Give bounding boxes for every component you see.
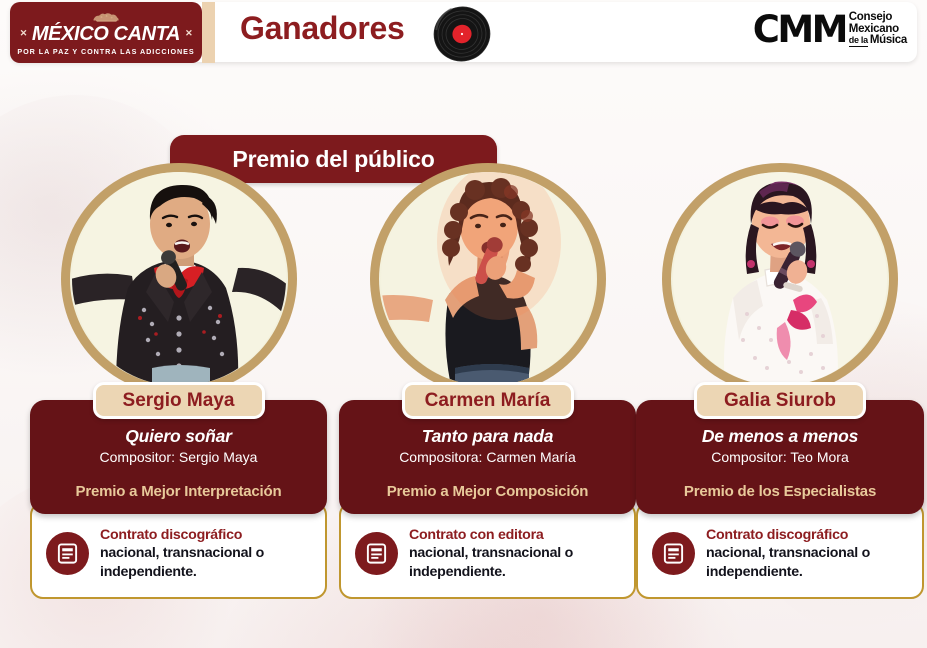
- contract-text: Contrato discográfico nacional, transnac…: [100, 526, 313, 581]
- contract-rest-text: nacional, transnacional o independiente.: [706, 545, 870, 579]
- portrait-gold-ring: [370, 163, 606, 395]
- document-glyph-icon: [662, 542, 685, 565]
- portrait-photo: [379, 172, 597, 386]
- portrait-photo: [70, 172, 288, 386]
- contract-rest-text: nacional, transnacional o independiente.: [100, 545, 264, 579]
- portrait-gold-ring: [61, 163, 297, 395]
- contract-lead-text: Contrato discográfico: [100, 526, 313, 544]
- award-label: Premio a Mejor Composición: [349, 483, 626, 500]
- winner-name-badge: Carmen María: [402, 382, 574, 419]
- winner-name-badge: Sergio Maya: [93, 382, 265, 419]
- contract-info-box: Contrato discográfico nacional, transnac…: [636, 502, 924, 599]
- contract-lead-text: Contrato con editora: [409, 526, 622, 544]
- singer-illustration: [379, 172, 597, 386]
- contract-lead-text: Contrato discográfico: [706, 526, 910, 544]
- award-label: Premio de los Especialistas: [646, 483, 914, 500]
- song-title: De menos a menos: [646, 426, 914, 447]
- composer-credit: Compositora: Carmen María: [349, 449, 626, 465]
- cmm-line-1: Consejo: [849, 12, 907, 24]
- contract-document-icon: [355, 532, 398, 575]
- portrait-gold-ring: [662, 163, 898, 395]
- cmm-mark-text: CMM: [753, 13, 846, 47]
- song-title: Tanto para nada: [349, 426, 626, 447]
- winner-card: Sergio Maya Quiero soñar Compositor: Ser…: [30, 163, 327, 599]
- cmm-full-name: Consejo Mexicano de la Música: [849, 12, 907, 47]
- contract-rest-text: nacional, transnacional o independiente.: [409, 545, 573, 579]
- portrait-sergio-maya: [61, 163, 297, 395]
- award-label: Premio a Mejor Interpretación: [40, 483, 317, 500]
- singer-illustration: [671, 172, 889, 386]
- composer-credit: Compositor: Teo Mora: [646, 449, 914, 465]
- cmm-line-3-small: de la: [849, 36, 868, 46]
- contract-document-icon: [46, 532, 89, 575]
- cmm-line-3: Música: [870, 35, 907, 47]
- portrait-carmen-maria: [370, 163, 606, 395]
- contract-text: Contrato con editora nacional, transnaci…: [409, 526, 622, 581]
- contract-info-box: Contrato con editora nacional, transnaci…: [339, 502, 636, 599]
- contract-info-box: Contrato discográfico nacional, transnac…: [30, 502, 327, 599]
- winners-grid: Sergio Maya Quiero soñar Compositor: Ser…: [0, 0, 927, 648]
- composer-credit: Compositor: Sergio Maya: [40, 449, 317, 465]
- portrait-galia-siurob: [662, 163, 898, 395]
- cmm-partner-logo[interactable]: CMM Consejo Mexicano de la Música: [753, 12, 907, 47]
- song-title: Quiero soñar: [40, 426, 317, 447]
- portrait-photo: [671, 172, 889, 386]
- contract-document-icon: [652, 532, 695, 575]
- contract-text: Contrato discográfico nacional, transnac…: [706, 526, 910, 581]
- singer-illustration: [70, 172, 288, 386]
- winner-name-badge: Galia Siurob: [694, 382, 866, 419]
- document-glyph-icon: [56, 542, 79, 565]
- winner-card: Galia Siurob De menos a menos Compositor…: [636, 163, 924, 599]
- winner-card: Carmen María Tanto para nada Compositora…: [339, 163, 636, 599]
- document-glyph-icon: [365, 542, 388, 565]
- vinyl-record-icon: [432, 4, 492, 64]
- page-title: Ganadores: [240, 10, 404, 47]
